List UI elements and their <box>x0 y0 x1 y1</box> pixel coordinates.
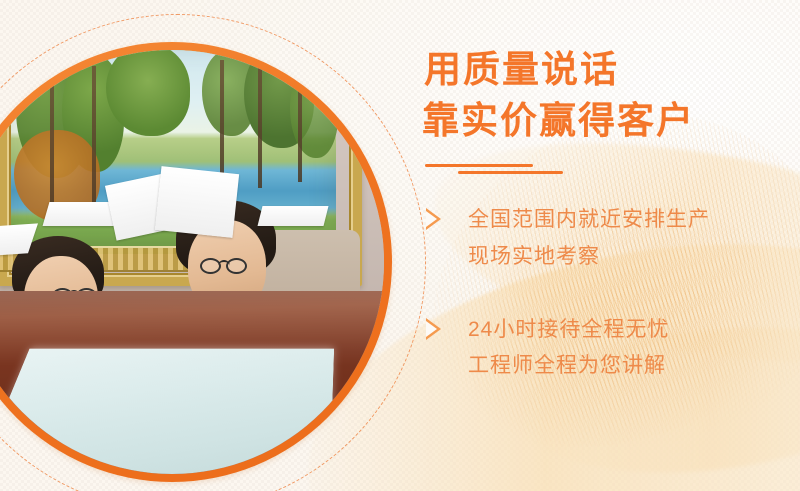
feature-bullet-1-line-1: 全国范围内就近安排生产 <box>468 202 780 239</box>
headline-line-1: 用质量说话 <box>424 44 780 95</box>
feature-bullet-2-line-1: 24小时接待全程无忧 <box>468 312 780 349</box>
headline-divider <box>424 162 780 184</box>
chevron-right-icon <box>426 318 441 340</box>
feature-bullet-1: 全国范围内就近安排生产 现场实地考察 <box>424 202 780 276</box>
document-sheet <box>258 206 329 226</box>
promo-banner: 用质量说话 靠实价赢得客户 全国范围内就近安排生产 现场实地考察 24小时接待全… <box>0 0 800 491</box>
divider-line-top <box>425 164 533 167</box>
feature-bullet-1-line-2: 现场实地考察 <box>468 239 780 276</box>
document-sheet <box>155 166 239 238</box>
bullet-spacer <box>424 276 780 294</box>
headline-line-2: 靠实价赢得客户 <box>422 95 780 146</box>
divider-line-bottom <box>458 171 563 174</box>
chevron-right-icon <box>426 208 441 230</box>
photo-circle <box>0 50 384 474</box>
feature-bullet-2-line-2: 工程师全程为您讲解 <box>468 348 780 385</box>
conference-table <box>0 291 384 474</box>
feature-bullet-2: 24小时接待全程无忧 工程师全程为您讲解 <box>424 312 780 386</box>
banner-copy: 用质量说话 靠实价赢得客户 全国范围内就近安排生产 现场实地考察 24小时接待全… <box>424 44 780 385</box>
photo-scene <box>0 50 384 474</box>
table-glass-inlay <box>0 349 334 474</box>
